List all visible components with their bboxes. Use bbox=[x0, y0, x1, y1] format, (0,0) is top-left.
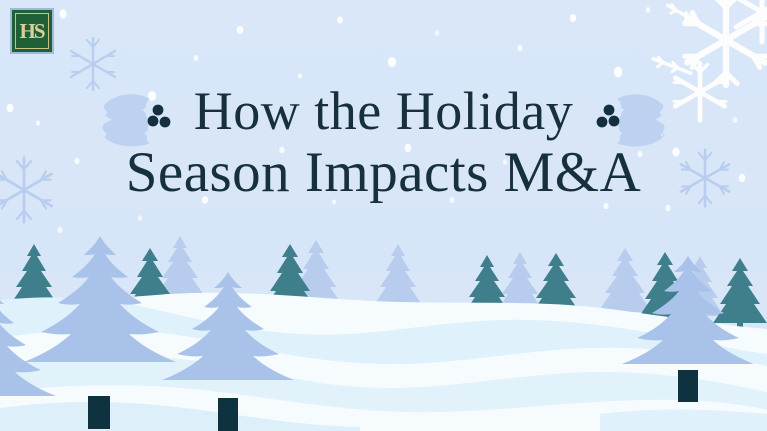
logo-inner-border: HS bbox=[15, 13, 49, 49]
hs-monogram-logo[interactable]: HS bbox=[10, 8, 54, 54]
logo-text: HS bbox=[19, 21, 43, 42]
snow-shadow-pocket-right bbox=[600, 410, 767, 431]
winter-landscape bbox=[0, 0, 767, 431]
blog-header-banner: HS How the Holiday Season Impacts M&A bbox=[0, 0, 767, 431]
